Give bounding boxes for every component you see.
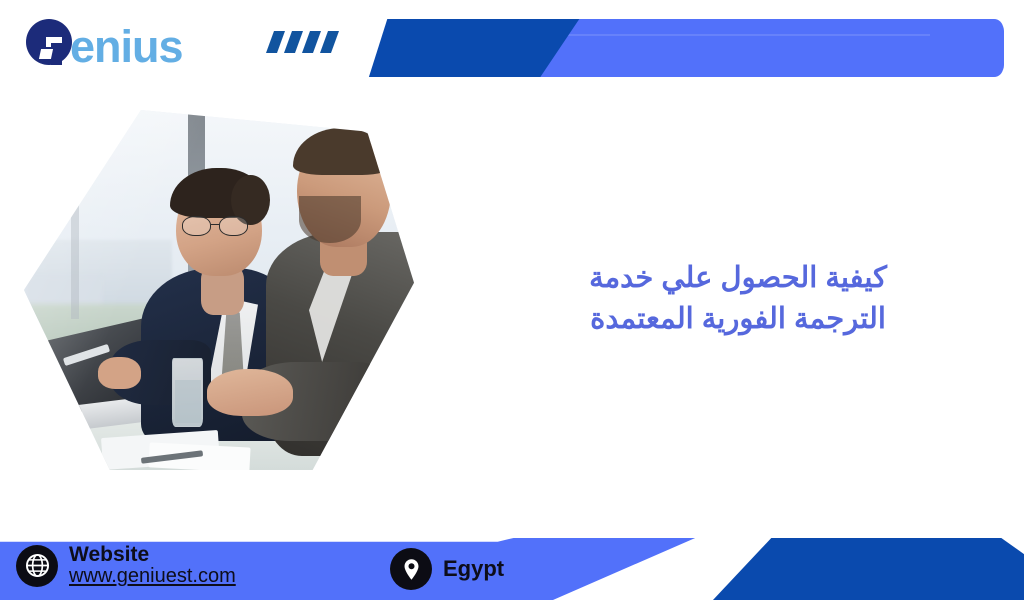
brand-logo[interactable]: enius <box>26 14 183 74</box>
country-label: Egypt <box>443 556 504 582</box>
website-label: Website <box>69 544 236 566</box>
logo-wordmark: enius <box>70 24 183 69</box>
footer-country-block[interactable]: Egypt <box>390 548 504 590</box>
page-title: كيفية الحصول علي خدمة الترجمة الفورية ال… <box>470 258 1006 340</box>
periwinkle-banner-cap <box>930 19 1004 77</box>
footer-bar: Website www.geniuest.com Egypt <box>0 536 1024 600</box>
location-pin-icon <box>390 548 432 590</box>
footer-website-block[interactable]: Website www.geniuest.com <box>16 544 236 587</box>
headline-line-1: كيفية الحصول علي خدمة <box>470 258 1006 299</box>
slash-bars-icon <box>270 31 335 53</box>
footer-dark-blue-shape <box>700 538 1024 600</box>
genius-g-mark-icon <box>26 19 76 69</box>
headline-line-2: الترجمة الفورية المعتمدة <box>470 299 1006 340</box>
promo-banner-page: enius <box>0 0 1024 600</box>
header-bar: enius <box>0 0 1024 95</box>
photo-illustration <box>24 110 414 470</box>
hero-photo-hexagon <box>24 110 414 470</box>
globe-icon <box>16 545 58 587</box>
website-url[interactable]: www.geniuest.com <box>69 566 236 587</box>
